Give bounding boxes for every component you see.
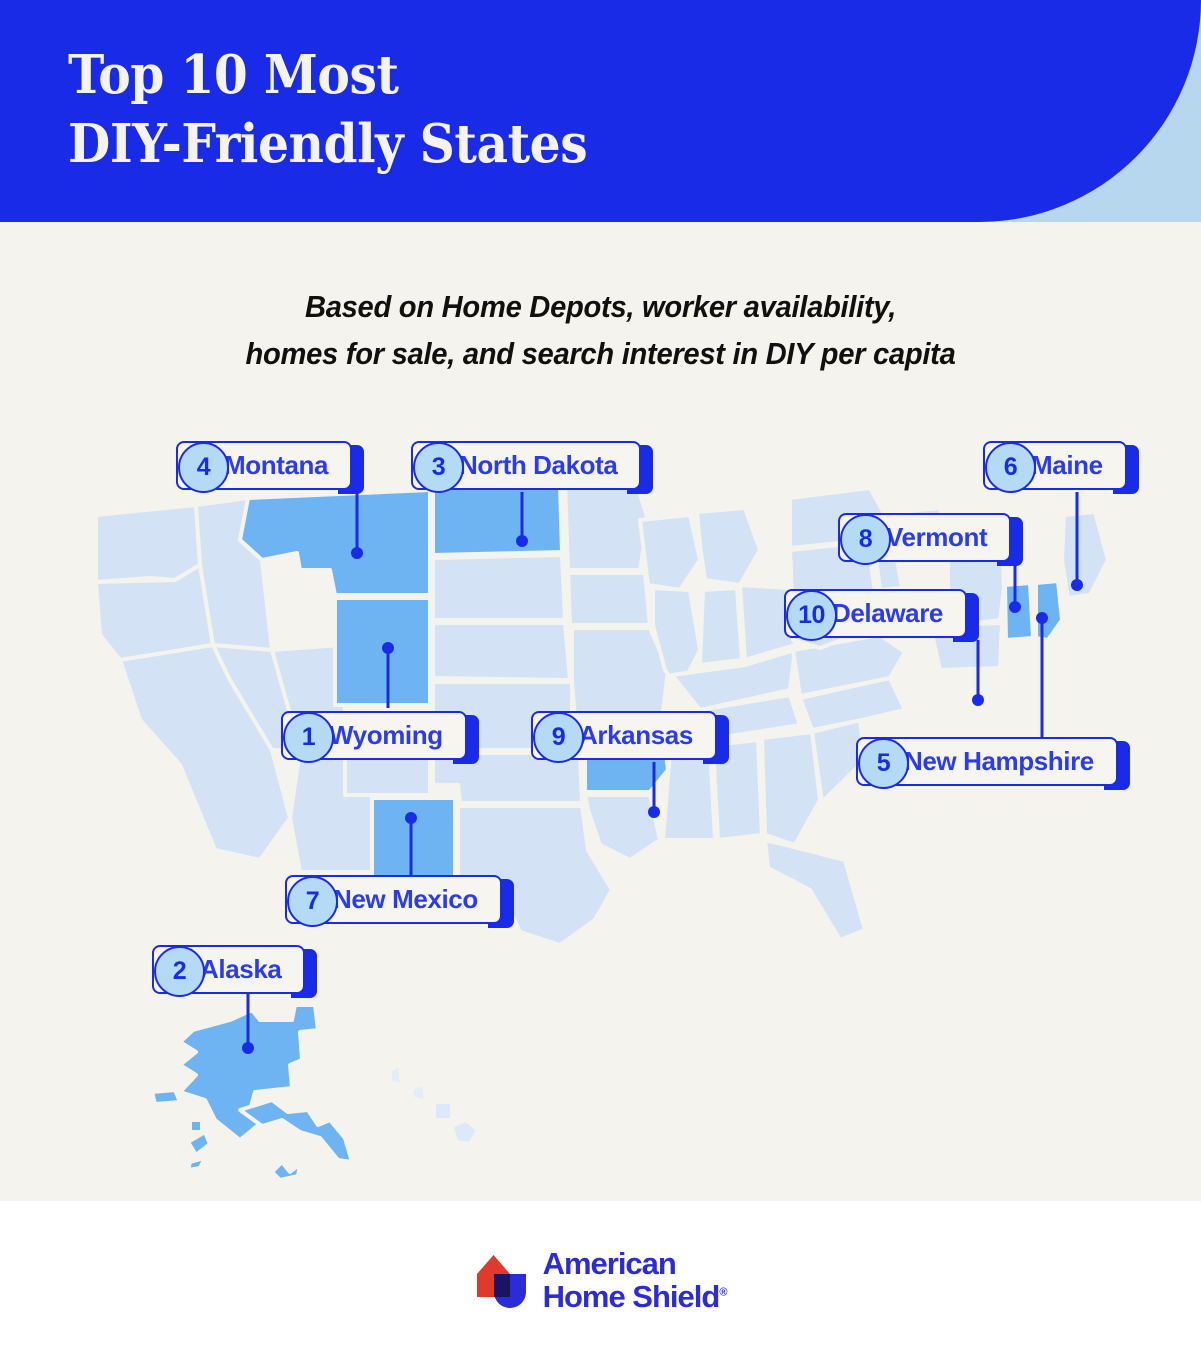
state-label-alaska: Alaska [200,954,281,985]
state-north-dakota-highlight [433,485,562,555]
callout-maine[interactable]: 6 Maine [983,441,1139,490]
state-alaska-highlight [152,1005,352,1180]
state-iowa [568,573,650,625]
rank-badge-montana: 4 [178,442,229,493]
state-georgia [762,732,820,845]
state-indiana [700,588,742,665]
callout-new-hampshire[interactable]: 5 New Hampshire [856,737,1130,786]
page-title: Top 10 Most DIY-Friendly States [68,41,767,179]
rank-badge-wyoming: 1 [283,712,334,763]
callout-box-arkansas: 9 Arkansas [531,711,717,760]
state-michigan [697,508,760,585]
subtitle: Based on Home Depots, worker availabilit… [36,283,1165,377]
infographic-page: Top 10 Most DIY-Friendly States Based on… [0,0,1201,1360]
state-montana-highlight [240,490,430,595]
callout-box-wyoming: 1 Wyoming [281,711,467,760]
state-wyoming-highlight [335,598,430,705]
state-new-hampshire-highlight [1036,581,1062,640]
callout-box-alaska: 2 Alaska [152,945,305,994]
state-label-montana: Montana [224,450,328,481]
state-louisiana [585,795,660,860]
callout-wyoming[interactable]: 1 Wyoming [281,711,479,760]
state-label-north-dakota: North Dakota [459,450,617,481]
state-label-vermont: Vermont [886,522,987,553]
home-shield-logo-icon [474,1252,530,1310]
state-label-new-hampshire: New Hampshire [904,746,1094,777]
state-hawaii [390,1065,478,1144]
state-south-dakota [433,555,565,620]
callout-box-north-dakota: 3 North Dakota [411,441,641,490]
callout-vermont[interactable]: 8 Vermont [838,513,1023,562]
state-florida [765,840,865,940]
rank-badge-delaware: 10 [786,590,837,641]
state-label-delaware: Delaware [832,598,943,629]
state-washington [96,505,200,582]
state-label-maine: Maine [1031,450,1103,481]
state-wisconsin [640,515,700,590]
rank-badge-new-mexico: 7 [287,876,338,927]
state-vermont-highlight [1005,583,1033,640]
callout-box-vermont: 8 Vermont [838,513,1011,562]
state-label-new-mexico: New Mexico [333,884,478,915]
header: Top 10 Most DIY-Friendly States [0,0,1201,222]
brand-name-line1: American [543,1246,676,1281]
callout-north-dakota[interactable]: 3 North Dakota [411,441,653,490]
callout-delaware[interactable]: 10 Delaware [784,589,979,638]
rank-badge-vermont: 8 [840,514,891,565]
logo-overlap-shape [494,1274,510,1297]
state-nebraska [433,623,570,680]
callout-arkansas[interactable]: 9 Arkansas [531,711,729,760]
state-missouri [572,628,668,720]
callout-box-maine: 6 Maine [983,441,1127,490]
footer: AmericanHome Shield® [0,1201,1201,1360]
callout-box-montana: 4 Montana [176,441,352,490]
callout-new-mexico[interactable]: 7 New Mexico [285,875,514,924]
state-label-wyoming: Wyoming [329,720,443,751]
state-maine [1062,512,1108,598]
callout-alaska[interactable]: 2 Alaska [152,945,317,994]
callout-box-new-mexico: 7 New Mexico [285,875,502,924]
brand-logo: AmericanHome Shield® [474,1248,728,1312]
rank-badge-new-hampshire: 5 [858,738,909,789]
registered-mark: ® [719,1286,727,1298]
callout-box-delaware: 10 Delaware [784,589,967,638]
callout-box-new-hampshire: 5 New Hampshire [856,737,1118,786]
brand-name-line2: Home Shield [543,1279,720,1314]
rank-badge-alaska: 2 [154,946,205,997]
callout-montana[interactable]: 4 Montana [176,441,364,490]
state-label-arkansas: Arkansas [579,720,693,751]
rank-badge-arkansas: 9 [533,712,584,763]
brand-name: AmericanHome Shield® [543,1248,728,1312]
rank-badge-north-dakota: 3 [413,442,464,493]
rank-badge-maine: 6 [985,442,1036,493]
